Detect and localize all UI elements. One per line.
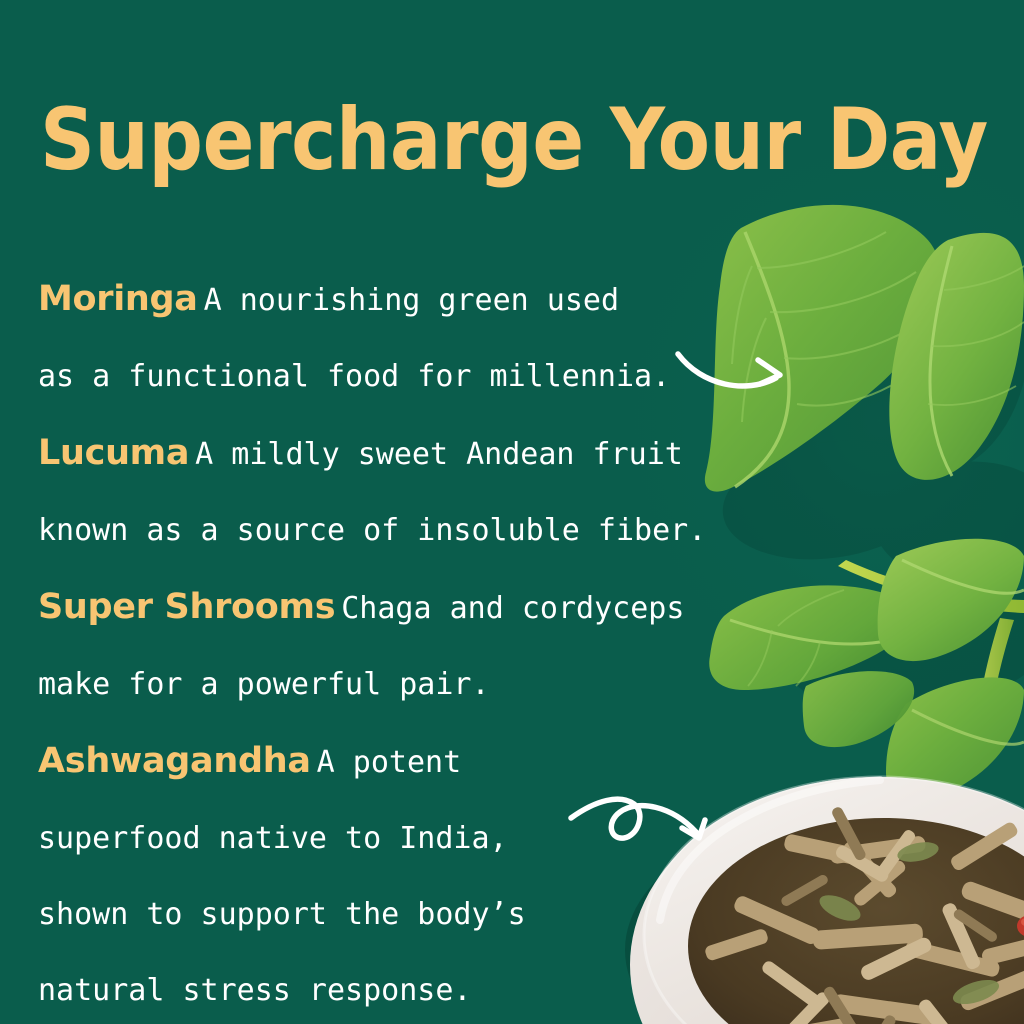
fact-line: as a functional food for millennia.: [38, 354, 828, 400]
fact-item-super-shrooms: Super ShroomsChaga and cordyceps make fo…: [38, 584, 828, 708]
fact-description-line: Chaga and cordyceps: [341, 591, 684, 626]
fact-item-moringa: MoringaA nourishing green used as a func…: [38, 276, 828, 400]
fact-line: superfood native to India,: [38, 816, 828, 862]
fact-description-line: A nourishing green used: [204, 283, 619, 318]
fact-item-lucuma: LucumaA mildly sweet Andean fruit known …: [38, 430, 828, 554]
fact-line: LucumaA mildly sweet Andean fruit: [38, 430, 828, 478]
fact-term: Moringa: [38, 279, 198, 319]
fact-term: Lucuma: [38, 433, 189, 473]
supercharge-your-day-poster: Supercharge Your Day MoringaA nourishing…: [0, 0, 1024, 1024]
fact-line: known as a source of insoluble fiber.: [38, 508, 828, 554]
fact-item-ashwagandha: AshwagandhaA potent superfood native to …: [38, 738, 828, 1014]
fact-line: natural stress response.: [38, 968, 828, 1014]
fact-line: make for a powerful pair.: [38, 662, 828, 708]
fact-description-line: A mildly sweet Andean fruit: [195, 437, 683, 472]
fact-line: shown to support the body’s: [38, 892, 828, 938]
fact-line: MoringaA nourishing green used: [38, 276, 828, 324]
page-title: Supercharge Your Day: [40, 92, 885, 188]
fact-term: Ashwagandha: [38, 741, 311, 781]
superfood-fact-list: MoringaA nourishing green used as a func…: [38, 246, 828, 1024]
fact-term: Super Shrooms: [38, 587, 335, 627]
fact-line: AshwagandhaA potent: [38, 738, 828, 786]
fact-line: Super ShroomsChaga and cordyceps: [38, 584, 828, 632]
fact-description-line: A potent: [317, 745, 462, 780]
